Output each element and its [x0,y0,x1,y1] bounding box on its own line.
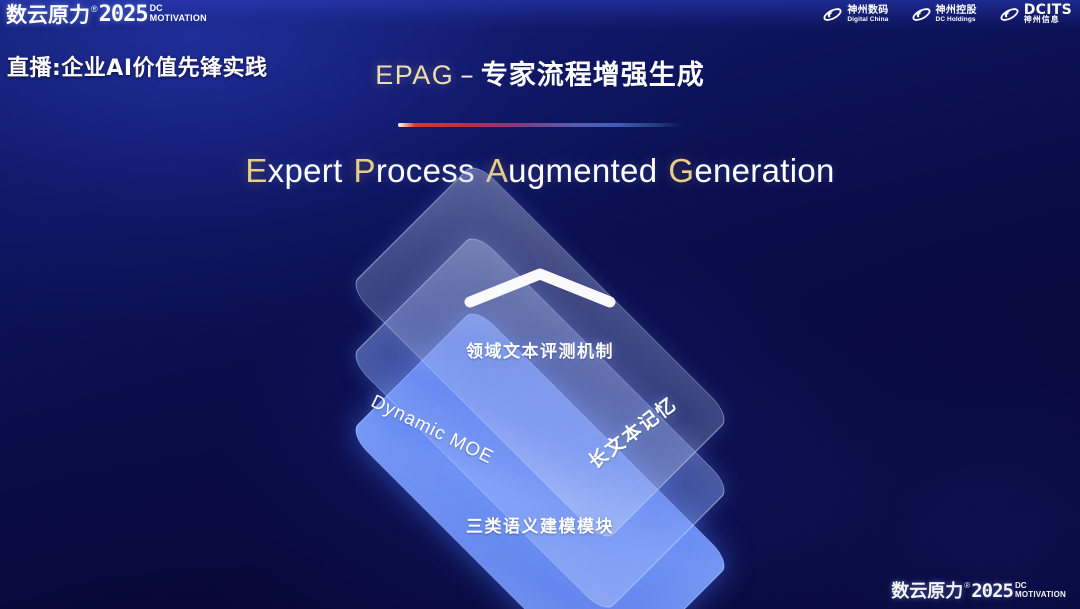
partner-logo-dc-holdings: 神州控股 DC Holdings [911,4,977,25]
partner-name-en: 神州信息 [1024,16,1072,24]
watermark-dc-label: DC [1015,582,1066,590]
partner-name-cn: 神州控股 [936,5,977,16]
gradient-divider [398,123,683,127]
brand-dc-motivation: DC MOTIVATION [150,4,207,23]
partner-name-cn: 神州数码 [847,5,888,16]
partner-logo-digital-china: 神州数码 Digital China [822,4,888,25]
partner-label-group: DCITS 神州信息 [1024,5,1072,24]
watermark-registered-mark: ® [964,581,970,591]
subtitle-cap-e: E [245,152,267,189]
layer-caption-bottom: 三类语义建模模块 [290,512,790,537]
brand-dc-label: DC [150,4,207,13]
partner-label-group: 神州数码 Digital China [847,5,888,24]
watermark-year: 2025 [971,581,1013,602]
watermark-dc-motivation: DC MOTIVATION [1015,582,1066,599]
partner-label-group: 神州控股 DC Holdings [936,5,977,24]
brand-watermark: 数云原力 ® 2025 DC MOTIVATION [891,581,1066,602]
watermark-name-cn: 数云原力 [891,581,963,602]
layered-architecture-diagram: 领域文本评测机制 Dynamic MOE 长文本记忆 三类语义建模模块 [290,222,790,584]
watermark-motivation-label: MOTIVATION [1015,590,1066,599]
swirl-logo-icon [911,4,932,25]
brand-motivation-label: MOTIVATION [150,13,207,23]
subtitle-rest-expert: xpert [268,152,343,189]
swirl-logo-icon [822,4,843,25]
brand-logo: 数云原力 ® 2025 DC MOTIVATION [6,3,207,27]
layer-caption-top: 领域文本评测机制 [290,337,790,362]
partner-name-en: Digital China [847,16,888,24]
partner-logo-dcits: DCITS 神州信息 [999,4,1072,25]
partner-logo-group: 神州数码 Digital China 神州控股 DC Holdings [822,4,1072,25]
heading-chinese: 专家流程增强生成 [481,60,705,91]
registered-mark: ® [91,3,98,15]
presentation-slide: 数云原力 ® 2025 DC MOTIVATION 直播:企业AI价值先锋实践 … [0,0,1080,609]
brand-year: 2025 [99,3,148,27]
swirl-logo-icon [999,4,1020,25]
slide-heading: EPAG–专家流程增强生成 [0,53,1080,92]
brand-name-cn: 数云原力 [6,3,90,27]
partner-name-en: DC Holdings [936,16,977,24]
heading-acronym: EPAG [375,60,454,90]
heading-dash: – [460,60,475,91]
